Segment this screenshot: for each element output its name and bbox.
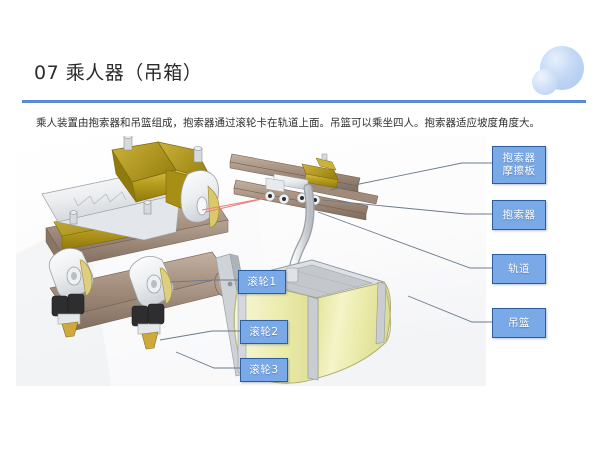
callout-label-grip-text: 抱索器 <box>503 209 536 222</box>
description-text: 乘人装置由抱索器和吊篮组成，抱索器通过滚轮卡在轨道上面。吊篮可以乘坐四人。抱索器… <box>36 116 576 131</box>
callout-label-roller-1[interactable]: 滚轮1 <box>238 270 286 294</box>
callout-label-track[interactable]: 轨道 <box>492 254 546 284</box>
callout-label-roller-3-text: 滚轮3 <box>249 364 278 377</box>
callout-label-roller-2-text: 滚轮2 <box>249 326 278 339</box>
page-title: 07 乘人器（吊箱） <box>34 58 202 85</box>
callout-label-grip[interactable]: 抱索器 <box>492 200 546 230</box>
decorative-circle-small-icon <box>532 69 558 95</box>
callout-label-friction-plate-line2: 摩擦板 <box>503 165 536 177</box>
callout-label-roller-3[interactable]: 滚轮3 <box>240 358 288 382</box>
technical-illustration <box>16 136 486 386</box>
callout-label-roller-1-text: 滚轮1 <box>247 276 276 289</box>
callout-label-roller-2[interactable]: 滚轮2 <box>240 320 288 344</box>
callout-label-track-text: 轨道 <box>508 263 530 276</box>
slide-canvas: 07 乘人器（吊箱） 乘人装置由抱索器和吊篮组成，抱索器通过滚轮卡在轨道上面。吊… <box>0 0 600 450</box>
callout-label-cabin[interactable]: 吊篮 <box>492 308 546 338</box>
title-divider <box>22 100 586 103</box>
callout-label-cabin-text: 吊篮 <box>508 317 530 330</box>
callout-label-friction-plate[interactable]: 抱索器 摩擦板 <box>492 146 546 184</box>
header-decoration <box>520 42 592 104</box>
callout-label-friction-plate-line1: 抱索器 <box>503 152 536 164</box>
